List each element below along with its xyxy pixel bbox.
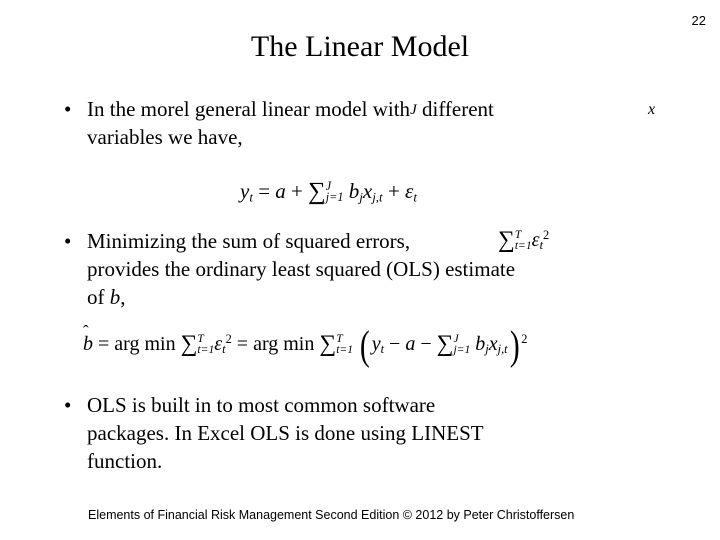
bullet-1-line1-middle: different: [422, 97, 494, 121]
bullet-item-1: In the morel general linear model withJ …: [55, 96, 675, 152]
equation-ols-estimator: b = arg min ∑Tt=1εt2 = arg min ∑Tt=1 (yt…: [83, 330, 527, 358]
page-title: The Linear Model: [0, 30, 720, 63]
bullet-2-line3-before: of: [87, 285, 105, 309]
bullet-1-line2: variables we have,: [87, 125, 243, 149]
slide: 22 The Linear Model In the morel general…: [0, 0, 720, 540]
bullet-2-line3-after: ,: [120, 285, 125, 309]
page-number: 22: [692, 14, 706, 27]
bullet-1-line1-before: In the morel general linear model with: [87, 97, 410, 121]
bullet-2-line2: provides the ordinary least squared (OLS…: [87, 257, 515, 281]
inline-symbol-b: b: [110, 285, 121, 309]
bullet-item-3: OLS is built in to most common software …: [55, 392, 675, 476]
bullet-3-line2: packages. In Excel OLS is done using LIN…: [87, 421, 484, 445]
bullet-2-line1: Minimizing the sum of squared errors,: [87, 229, 410, 253]
bullet-3-line1: OLS is built in to most common software: [87, 393, 435, 417]
bullet-3-line3: function.: [87, 449, 162, 473]
bullet-3-text: OLS is built in to most common software …: [55, 392, 675, 476]
bullet-1-text: In the morel general linear model withJ …: [55, 96, 675, 152]
slide-footer: Elements of Financial Risk Management Se…: [88, 508, 574, 522]
bullet-2-text: Minimizing the sum of squared errors, pr…: [55, 228, 675, 312]
equation-linear-model: yt = a + ∑Jj=1 bjxj,t + εt: [240, 177, 417, 205]
equation-sum-squared-errors: ∑Tt=1εt2: [498, 226, 549, 253]
inline-symbol-x: x: [648, 101, 655, 119]
inline-symbol-j: J: [410, 102, 417, 118]
bullet-item-2: Minimizing the sum of squared errors, pr…: [55, 228, 675, 312]
